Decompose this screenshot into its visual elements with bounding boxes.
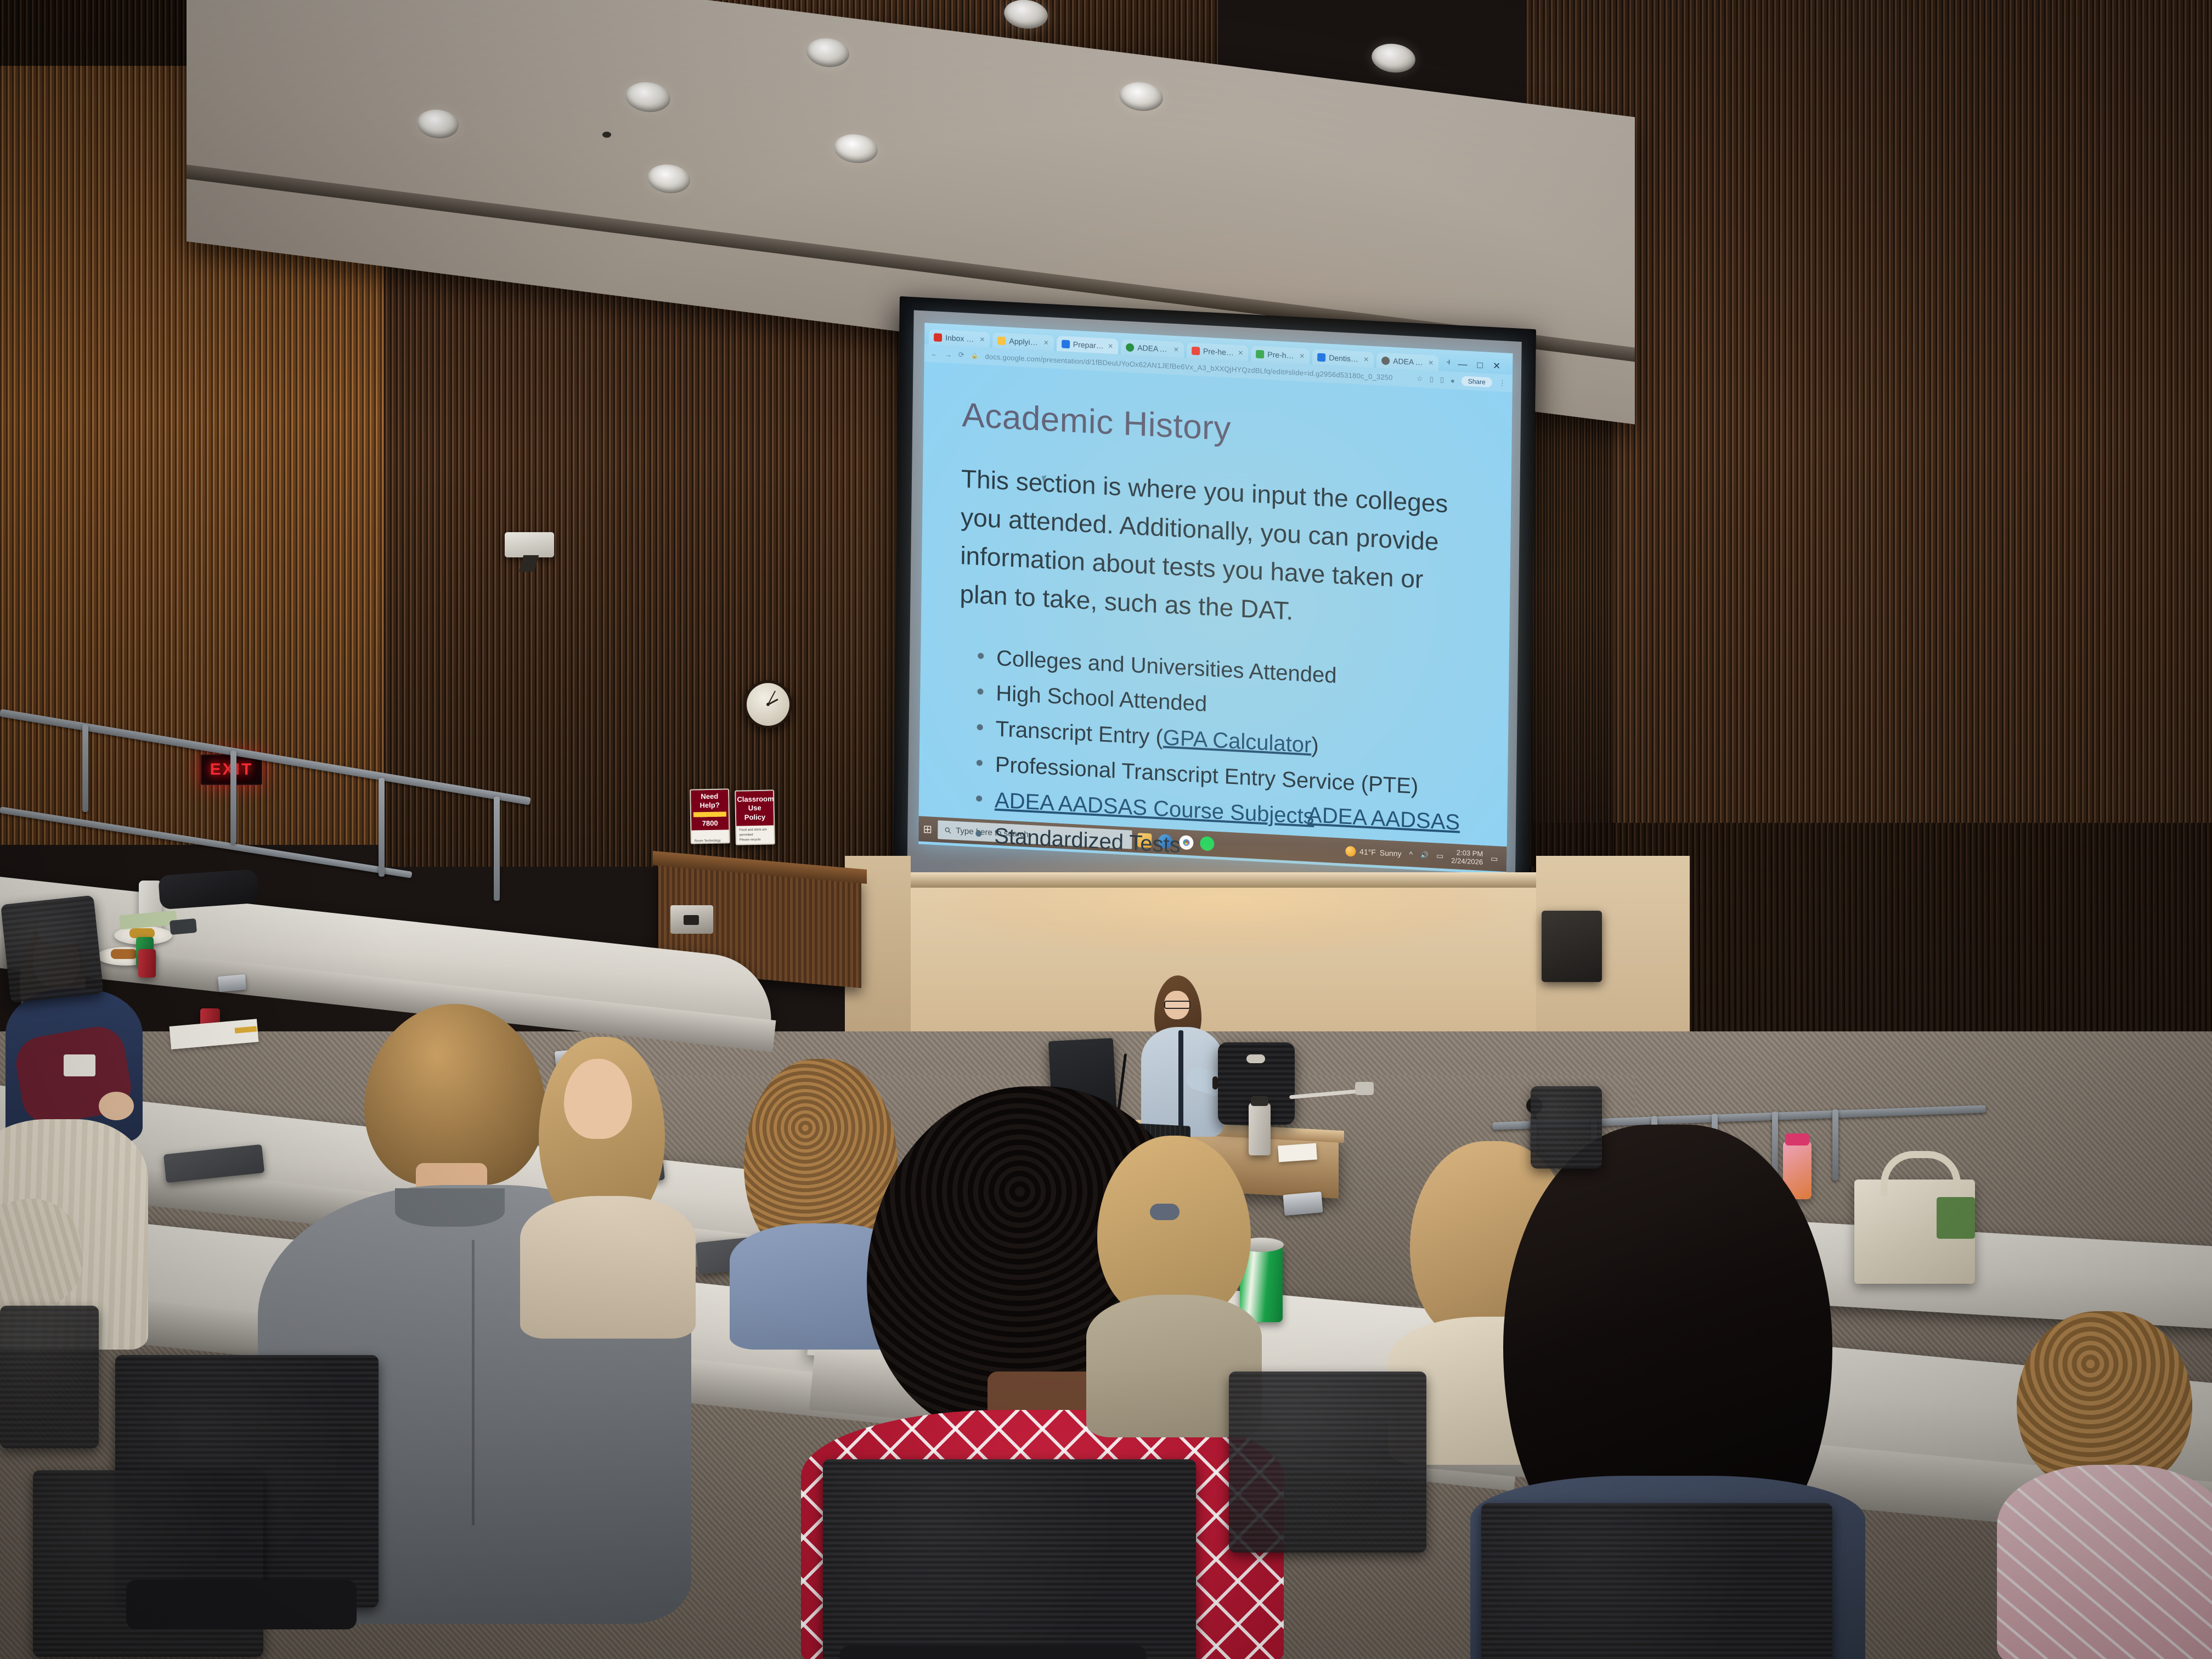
need-help-sign-body: Room TechnologyIf you need assistance wi…: [692, 836, 730, 844]
forward-icon[interactable]: →: [945, 350, 952, 359]
student-tan-top: [510, 1037, 719, 1311]
close-window-icon[interactable]: ✕: [1493, 360, 1500, 372]
gpa-calculator-link[interactable]: GPA Calculator: [1163, 726, 1312, 758]
ceiling-sensor: [602, 132, 611, 138]
bookmark-star-icon[interactable]: ☆: [1417, 374, 1423, 383]
tab-favicon: [1192, 346, 1200, 355]
bullet-suffix: ): [1311, 733, 1319, 758]
classroom-use-policy-sign: Classroom Use Policy Food and drink are …: [735, 789, 775, 845]
start-button-icon[interactable]: ⊞: [923, 822, 932, 836]
slide-paragraph: This section is where you input the coll…: [960, 460, 1472, 640]
tab-2[interactable]: Preparing for ... ✕: [1057, 336, 1119, 354]
split-view-icon[interactable]: ▯: [1440, 375, 1444, 384]
plus-icon: +: [1446, 357, 1451, 368]
reload-icon[interactable]: ⟳: [958, 351, 964, 360]
student-pink-top: [1997, 1311, 2212, 1659]
tab-label: Applying to D...: [1009, 336, 1040, 347]
back-icon[interactable]: ←: [931, 349, 938, 358]
tab-0[interactable]: Inbox (17) - b... ✕: [929, 329, 990, 348]
lock-icon[interactable]: 🔒: [971, 352, 979, 359]
tab-3[interactable]: ADEA AADSA... ✕: [1121, 339, 1184, 358]
clock-center-pin: [766, 703, 770, 706]
google-slides-canvas: Academic History This section is where y…: [919, 362, 1513, 847]
tab-4[interactable]: Pre-health Ad... ✕: [1187, 342, 1249, 361]
sign-heading-text: Classroom Use Policy: [737, 794, 774, 821]
valance-ledge: [894, 872, 1553, 888]
chair-seat-base-1: [126, 1580, 357, 1629]
tab-6[interactable]: Dentistry Res... ✕: [1312, 349, 1374, 368]
student-blond-front: [1064, 1136, 1284, 1399]
close-icon[interactable]: ✕: [1043, 339, 1049, 347]
hair-tie-icon: [1150, 1204, 1180, 1220]
policy-sign-heading: Classroom Use Policy: [736, 791, 774, 826]
student-head: [564, 1059, 632, 1139]
power-outlet-back: [218, 974, 246, 992]
av-wall-box: [505, 532, 554, 557]
tab-label: Pre-health A...: [1267, 350, 1296, 360]
slide-bullet-list: Colleges and Universities Attended High …: [957, 639, 1471, 874]
chair-back-left-lower: [0, 1306, 99, 1448]
wall-jack-port: [684, 915, 699, 925]
name-badge: [64, 1054, 95, 1076]
stair-railing-post-4: [494, 797, 500, 901]
shirt-seam: [472, 1240, 475, 1525]
student-torso: [520, 1196, 696, 1339]
tab-1[interactable]: Applying to D... ✕: [992, 332, 1054, 351]
sign-accent-band: [693, 811, 726, 817]
policy-sign-body: Food and drink are permittedPlease recyc…: [736, 825, 775, 845]
close-icon[interactable]: ✕: [1238, 349, 1243, 357]
tab-7[interactable]: ADEA AADSAS ✕: [1376, 352, 1438, 371]
tab-label: Preparing for ...: [1073, 340, 1105, 350]
tab-favicon: [934, 333, 942, 342]
window-controls: — □ ✕: [1458, 359, 1508, 375]
bullet-text: High School Attended: [996, 681, 1207, 716]
chair-back-left-1: [1, 895, 104, 1003]
close-icon[interactable]: ✕: [979, 336, 985, 344]
stair-railing-post-3: [379, 778, 385, 877]
chair-back-dark-hair: [1481, 1503, 1832, 1659]
kebab-menu-icon[interactable]: ⋮: [1499, 379, 1506, 388]
projection-screen-assembly: Inbox (17) - b... ✕ Applying to D... ✕ P…: [893, 296, 1536, 938]
chair-seat-base-2: [839, 1646, 1147, 1659]
tab-favicon: [1126, 343, 1134, 352]
need-help-sign: Need Help? 612-626-7800 Room TechnologyI…: [690, 788, 730, 844]
student-torso: [1997, 1465, 2212, 1659]
new-tab-button[interactable]: +: [1441, 353, 1455, 371]
student-hair: [2017, 1311, 2192, 1487]
chair-back-red-pattern: [823, 1459, 1196, 1659]
extensions-icon[interactable]: ▯: [1429, 375, 1433, 383]
backpack-on-desk: [158, 869, 259, 910]
tab-favicon: [1381, 356, 1390, 365]
close-icon[interactable]: ✕: [1173, 346, 1179, 354]
tab-label: Dentistry Res...: [1329, 353, 1360, 364]
tab-5[interactable]: Pre-health A... ✕: [1251, 346, 1310, 364]
stair-railing-post-1: [82, 724, 88, 812]
document-camera-head: [1355, 1082, 1374, 1095]
tab-favicon: [997, 336, 1006, 345]
slide-title: Academic History: [962, 396, 1474, 461]
close-icon[interactable]: ✕: [1299, 352, 1305, 360]
wall-clock: [744, 680, 792, 729]
close-icon[interactable]: ✕: [1428, 359, 1434, 367]
close-icon[interactable]: ✕: [1363, 356, 1369, 364]
minimize-icon[interactable]: —: [1458, 359, 1467, 370]
close-icon[interactable]: ✕: [1108, 342, 1113, 351]
lecture-hall-photo: Inbox (17) - b... ✕ Applying to D... ✕ P…: [0, 0, 2212, 1659]
tab-label: Pre-health Ad...: [1203, 347, 1235, 357]
glasses-icon: [1164, 1001, 1190, 1009]
notification-center-icon[interactable]: ▭: [1491, 854, 1498, 864]
presenter-chair-handle: [1246, 1054, 1265, 1063]
need-help-sign-heading: Need Help? 612-626-7800: [691, 789, 729, 830]
stair-railing-post-2: [230, 751, 236, 844]
avatar[interactable]: ●: [1451, 376, 1455, 385]
share-button[interactable]: Share: [1462, 376, 1492, 387]
search-icon: [944, 826, 951, 834]
tab-label: ADEA AADSAS: [1393, 357, 1425, 367]
bullet-text: Transcript Entry (: [995, 717, 1163, 750]
chair-back-empty-right: [1531, 1086, 1602, 1169]
tab-favicon: [1256, 349, 1264, 358]
wall-sconce: [933, 924, 971, 939]
downlight-8: [1370, 41, 1417, 75]
tote-bag-contents: [1937, 1197, 1975, 1239]
student-hair: [1097, 1136, 1251, 1317]
maximize-icon[interactable]: □: [1477, 360, 1483, 371]
wall-speaker: [1542, 911, 1602, 982]
browser-window: Inbox (17) - b... ✕ Applying to D... ✕ P…: [918, 323, 1513, 874]
tab-label: ADEA AADSA...: [1137, 343, 1170, 354]
chair-back-empty-aisle: [1229, 1372, 1426, 1553]
sign-heading-text: Need Help?: [699, 792, 719, 810]
tab-favicon: [1062, 340, 1070, 348]
tab-favicon: [1317, 353, 1325, 362]
shirt-collar: [395, 1188, 505, 1227]
tab-label: Inbox (17) - b...: [945, 333, 976, 343]
